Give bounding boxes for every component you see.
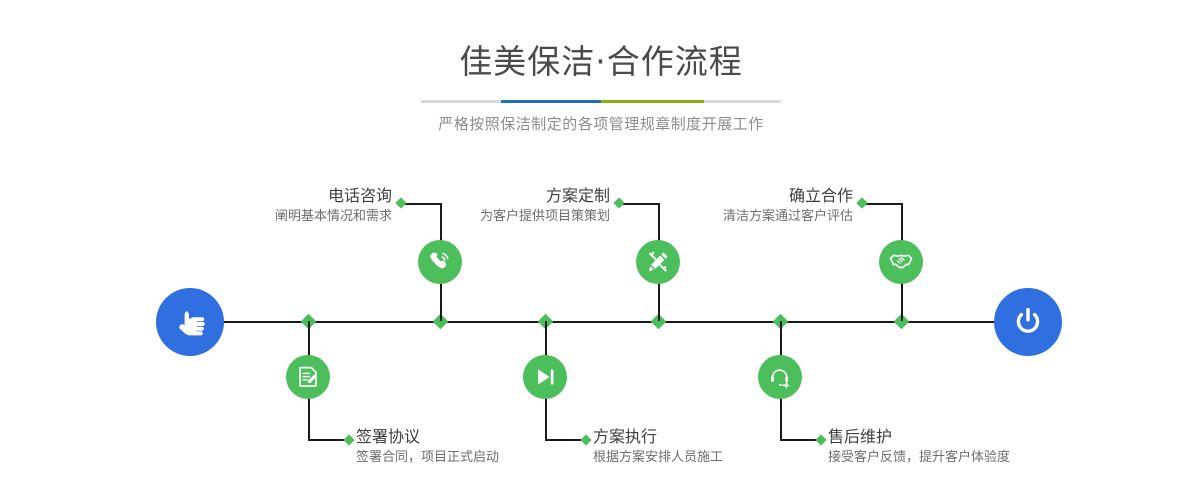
process-node-plan-execution — [523, 355, 567, 399]
process-title: 签署协议 — [356, 426, 586, 448]
process-label-sign-agreement: 签署协议 签署合同，项目正式启动 — [356, 426, 586, 468]
timeline-start-endpoint — [156, 288, 224, 356]
process-label-phone-consult: 电话咨询 阐明基本情况和需求 — [180, 185, 392, 227]
process-label-establish-cooperation: 确立合作 清洁方案通过客户评估 — [641, 185, 853, 227]
label-marker-top-2 — [613, 197, 624, 208]
process-desc: 根据方案安排人员施工 — [593, 448, 823, 468]
pencil-ruler-icon — [645, 249, 671, 275]
label-marker-top-3 — [856, 197, 867, 208]
phone-ringing-icon — [427, 249, 453, 275]
handshake-icon — [888, 249, 914, 275]
process-desc: 阐明基本情况和需求 — [180, 207, 392, 227]
process-label-after-sales: 售后维护 接受客户反馈，提升客户体验度 — [828, 426, 1078, 468]
connector-horizontal-bottom-2 — [545, 439, 584, 441]
process-desc: 为客户提供项目策策划 — [398, 207, 610, 227]
process-desc: 签署合同，项目正式启动 — [356, 448, 586, 468]
process-node-phone-consult — [418, 240, 462, 284]
process-title: 方案执行 — [593, 426, 823, 448]
label-marker-bottom-1 — [343, 434, 354, 445]
connector-horizontal-bottom-3 — [780, 439, 819, 441]
timeline-end-endpoint — [994, 288, 1062, 356]
process-title: 确立合作 — [641, 185, 853, 207]
process-desc: 清洁方案通过客户评估 — [641, 207, 853, 227]
process-title: 电话咨询 — [180, 185, 392, 207]
play-execute-icon — [532, 364, 558, 390]
document-edit-icon — [295, 364, 321, 390]
process-title: 售后维护 — [828, 426, 1078, 448]
process-node-establish-cooperation — [879, 240, 923, 284]
process-desc: 接受客户反馈，提升客户体验度 — [828, 448, 1078, 468]
process-label-plan-customize: 方案定制 为客户提供项目策策划 — [398, 185, 610, 227]
process-node-after-sales — [758, 355, 802, 399]
process-timeline: 电话咨询 阐明基本情况和需求 方案定制 为客户提供项目策策划 — [0, 0, 1202, 502]
power-button-icon — [1009, 303, 1047, 341]
headset-support-icon — [767, 364, 793, 390]
cooperation-process-infographic: 佳美保洁·合作流程 严格按照保洁制定的各项管理规章制度开展工作 — [0, 0, 1202, 502]
process-node-sign-agreement — [286, 355, 330, 399]
process-node-plan-customize — [636, 240, 680, 284]
pointing-hand-icon — [171, 303, 209, 341]
connector-horizontal-bottom-1 — [308, 439, 347, 441]
process-label-plan-execution: 方案执行 根据方案安排人员施工 — [593, 426, 823, 468]
connector-horizontal-top-3 — [863, 203, 902, 205]
process-title: 方案定制 — [398, 185, 610, 207]
